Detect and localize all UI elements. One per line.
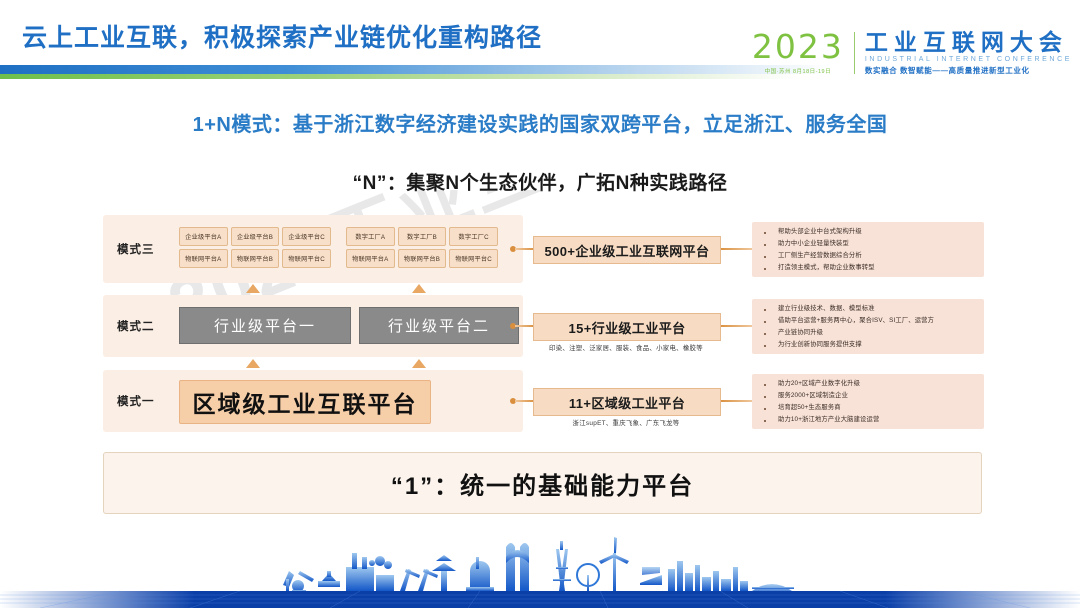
chip-group-enterprise: 企业级平台A 企业级平台B 企业级平台C 物联网平台A 物联网平台B 物联网平台… xyxy=(179,227,331,268)
pill-industry-platforms: 15+行业级工业平台 xyxy=(533,313,721,341)
pill-regional-platforms: 11+区域级工业平台 xyxy=(533,388,721,416)
connector-line xyxy=(515,400,535,402)
detail-item: 助力中小企业轻量快装型 xyxy=(752,240,980,248)
logo-subtitle: 数实融合 数智赋能——高质量推进新型工业化 xyxy=(865,65,1072,76)
chip: 数字工厂B xyxy=(398,227,447,246)
pill-enterprise-platforms: 500+企业级工业互联网平台 xyxy=(533,236,721,264)
chip: 数字工厂C xyxy=(449,227,498,246)
architecture-diagram: 模式三 企业级平台A 企业级平台B 企业级平台C 物联网平台A 物联网平台B 物… xyxy=(0,205,1080,445)
header-divider-rules xyxy=(0,65,830,81)
logo-divider xyxy=(854,32,855,74)
detail-item: 培育超50+生态服务商 xyxy=(752,404,980,412)
logo-english-title: INDUSTRIAL INTERNET CONFERENCE xyxy=(865,56,1072,63)
detail-panel-mode-two: 建立行业级技术、数据、模型标准 借助平台运营+服务两中心，聚合ISV、SI工厂、… xyxy=(752,299,984,354)
connector-line xyxy=(719,325,753,327)
footer-skyline xyxy=(0,513,1080,608)
logo-year-block: 2023 中国·苏州 8月18日-19日 xyxy=(752,30,854,75)
foundation-label: “1”：统一的基础能力平台 xyxy=(391,466,694,501)
slide-subtitle: 1+N模式：基于浙江数字经济建设实践的国家双跨平台，立足浙江、服务全国 xyxy=(0,108,1080,137)
mode-label-one: 模式一 xyxy=(117,393,155,409)
detail-item: 打造领主模式，帮助企业数事转型 xyxy=(752,264,980,272)
page-header: 云上工业互联，积极探索产业链优化重构路径 2023 中国·苏州 8月18日-19… xyxy=(0,0,1080,88)
mode-label-three: 模式三 xyxy=(117,241,155,257)
foundation-banner: “1”：统一的基础能力平台 xyxy=(103,452,982,514)
logo-year: 2023 xyxy=(752,30,844,63)
detail-list: 助力20+区域产业数字化升级 服务2000+区域制造企业 培育超50+生态服务商… xyxy=(752,380,980,423)
chip: 企业级平台B xyxy=(231,227,280,246)
detail-item: 帮助头部企业中台式架构升级 xyxy=(752,228,980,236)
chip: 企业级平台C xyxy=(282,227,331,246)
detail-item: 建立行业级技术、数据、模型标准 xyxy=(752,305,980,313)
logo-main-title: 工业互联网大会 xyxy=(865,30,1072,54)
detail-item: 助力20+区域产业数字化升级 xyxy=(752,380,980,388)
detail-item: 为行业创新协同服务提供支撑 xyxy=(752,341,980,349)
logo-text-block: 工业互联网大会 INDUSTRIAL INTERNET CONFERENCE 数… xyxy=(865,30,1072,76)
logo-date: 中国·苏州 8月18日-19日 xyxy=(765,67,832,75)
page-title: 云上工业互联，积极探索产业链优化重构路径 xyxy=(22,18,542,54)
up-arrow-icon xyxy=(412,359,426,368)
connector-line xyxy=(515,325,535,327)
regional-platform-box: 区域级工业互联平台 xyxy=(179,380,431,424)
conference-logo: 2023 中国·苏州 8月18日-19日 工业互联网大会 INDUSTRIAL … xyxy=(752,30,1072,76)
up-arrow-icon xyxy=(412,284,426,293)
industry-platform-box-2: 行业级平台二 xyxy=(359,307,519,344)
header-rule-blue xyxy=(0,65,830,74)
ground-plane xyxy=(0,591,1080,608)
chip: 物联网平台C xyxy=(449,249,498,268)
connector-line xyxy=(719,400,753,402)
header-rule-green xyxy=(0,74,800,79)
detail-list: 帮助头部企业中台式架构升级 助力中小企业轻量快装型 工厂侧生产经营数据综合分析 … xyxy=(752,228,980,271)
chip-group-digital-factory: 数字工厂A 数字工厂B 数字工厂C 物联网平台A 物联网平台B 物联网平台C xyxy=(346,227,498,268)
detail-list: 建立行业级技术、数据、模型标准 借助平台运营+服务两中心，聚合ISV、SI工厂、… xyxy=(752,305,980,348)
detail-item: 服务2000+区域制造企业 xyxy=(752,392,980,400)
chip: 物联网平台C xyxy=(282,249,331,268)
chip: 物联网平台B xyxy=(398,249,447,268)
skyline-buildings xyxy=(283,537,794,593)
mode-label-two: 模式二 xyxy=(117,318,155,334)
chip: 企业级平台A xyxy=(179,227,228,246)
up-arrow-icon xyxy=(246,284,260,293)
detail-item: 借助平台运营+服务两中心，聚合ISV、SI工厂、运营方 xyxy=(752,317,980,325)
connector-line xyxy=(515,248,535,250)
up-arrow-icon xyxy=(246,359,260,368)
chip: 物联网平台A xyxy=(346,249,395,268)
chip: 数字工厂A xyxy=(346,227,395,246)
pill-note-industry: 印染、注塑、泛家居、服装、食品、小家电、橡胶等 xyxy=(500,343,752,352)
industry-platform-box-1: 行业级平台一 xyxy=(179,307,351,344)
section-heading: “N”：集聚N个生态伙伴，广拓N种实践路径 xyxy=(0,168,1080,195)
detail-panel-mode-one: 助力20+区域产业数字化升级 服务2000+区域制造企业 培育超50+生态服务商… xyxy=(752,374,984,429)
mode-band-one: 模式一 区域级工业互联平台 xyxy=(103,370,523,432)
detail-item: 产业链协同升级 xyxy=(752,329,980,337)
detail-item: 工厂侧生产经营数据综合分析 xyxy=(752,252,980,260)
chip: 物联网平台B xyxy=(231,249,280,268)
pill-note-regional: 浙江supET、重庆飞象、广东飞龙等 xyxy=(500,418,752,427)
connector-line xyxy=(719,248,753,250)
mode-band-two: 模式二 行业级平台一 行业级平台二 xyxy=(103,295,523,357)
detail-panel-mode-three: 帮助头部企业中台式架构升级 助力中小企业轻量快装型 工厂侧生产经营数据综合分析 … xyxy=(752,222,984,277)
mode-band-three: 模式三 企业级平台A 企业级平台B 企业级平台C 物联网平台A 物联网平台B 物… xyxy=(103,215,523,283)
chip: 物联网平台A xyxy=(179,249,228,268)
skyline-illustration xyxy=(0,513,1080,608)
detail-item: 助力10+浙江地方产业大脑建设运营 xyxy=(752,416,980,424)
